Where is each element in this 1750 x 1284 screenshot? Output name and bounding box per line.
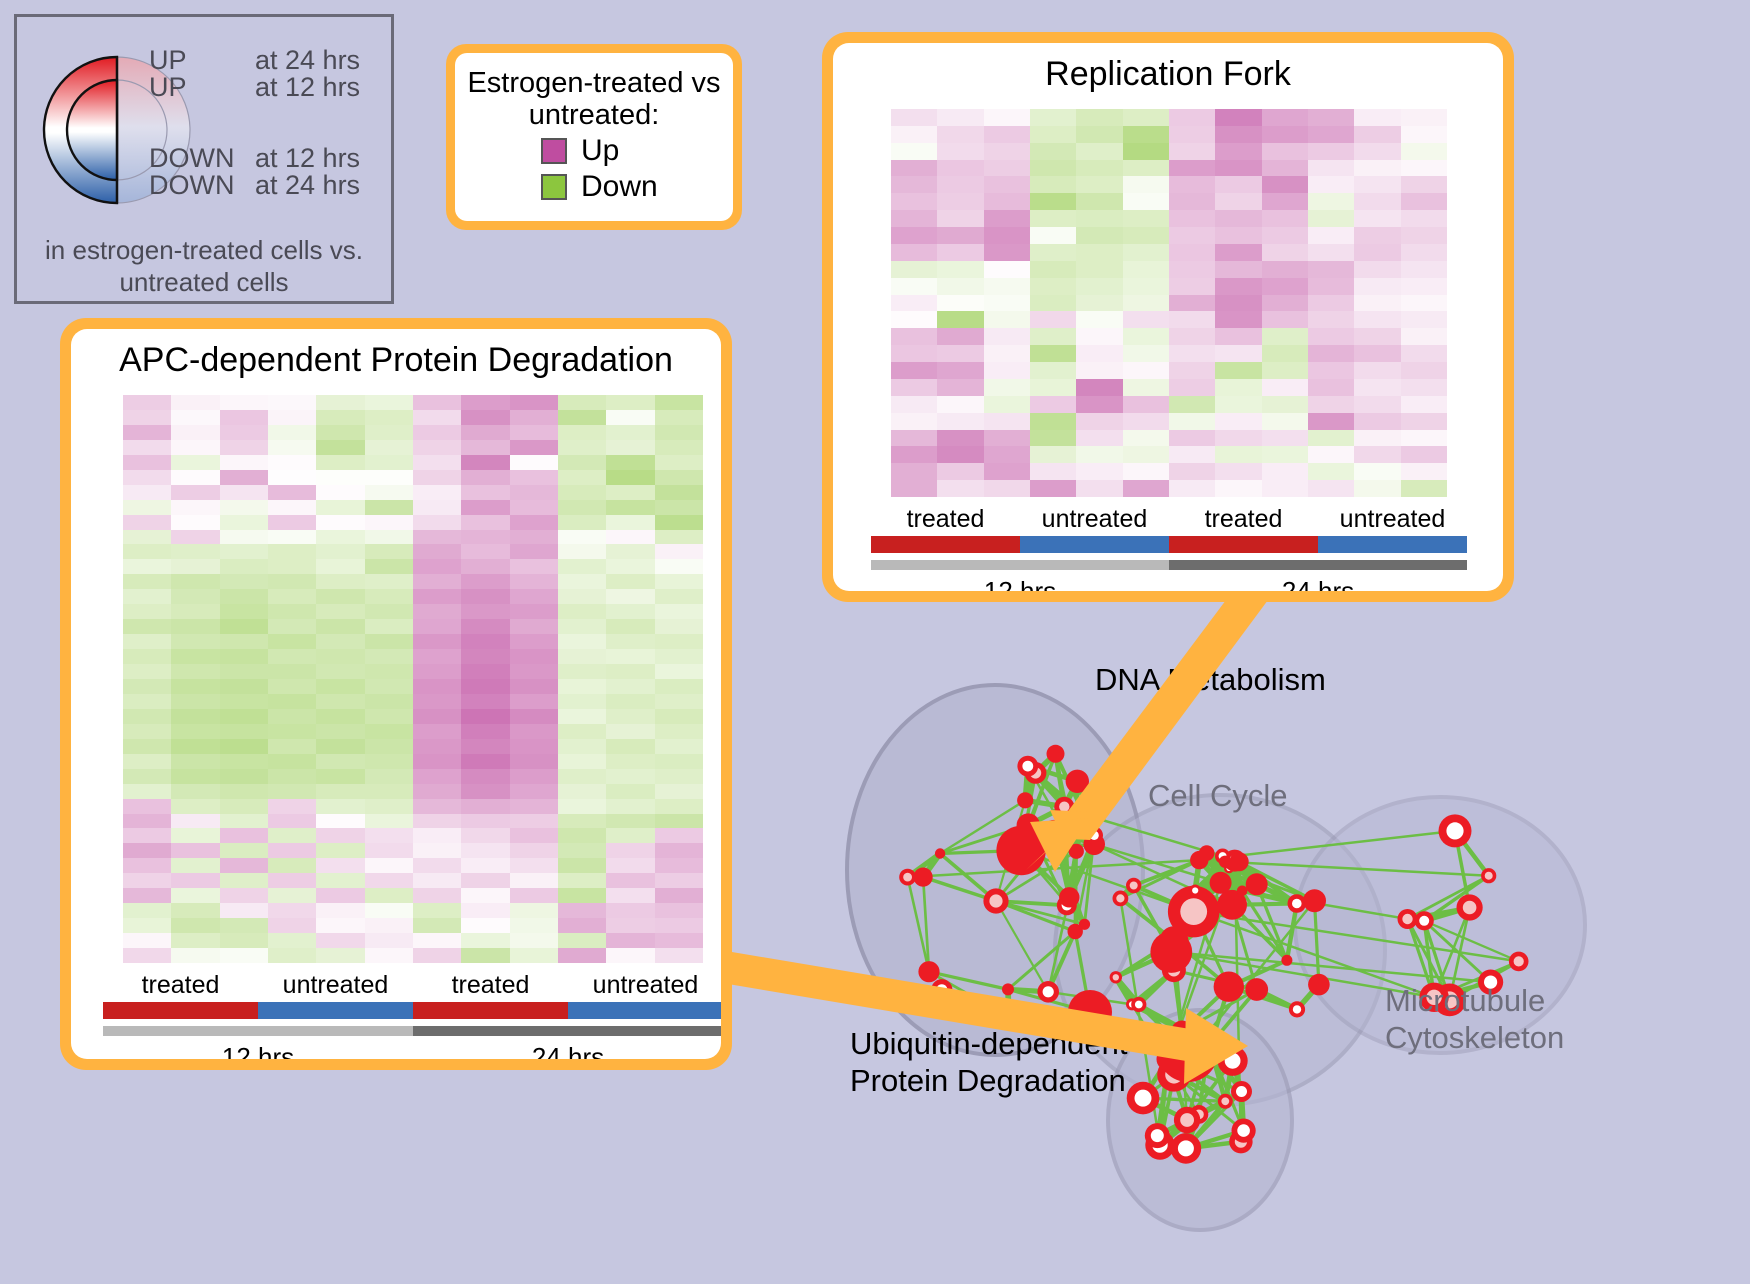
heatmap-cell (510, 410, 558, 425)
network-node[interactable] (1189, 885, 1201, 897)
heatmap-cell (1123, 328, 1169, 345)
heatmap-cell (316, 485, 364, 500)
heatmap-cell (268, 724, 316, 739)
heatmap-cell (123, 425, 171, 440)
heatmap-cell (220, 814, 268, 829)
heatmap-cell (413, 530, 461, 545)
heatmap-cell (316, 873, 364, 888)
heatmap-cell (1076, 345, 1122, 362)
heatmap-cell (1169, 379, 1215, 396)
heatmap-cell (1169, 126, 1215, 143)
heatmap-cell (510, 544, 558, 559)
network-node[interactable] (1288, 894, 1307, 913)
heatmap-cell (1262, 430, 1308, 447)
heatmap-cell (123, 455, 171, 470)
heatmap-cell (891, 143, 937, 160)
heatmap-cell (1123, 160, 1169, 177)
heatmap-cell (606, 933, 654, 948)
heatmap-cell (413, 769, 461, 784)
heatmap-cell (1215, 345, 1261, 362)
heatmap-cell (316, 440, 364, 455)
heatmap-cell (891, 413, 937, 430)
heatmap-cell (365, 589, 413, 604)
heatmap-cell (461, 679, 509, 694)
heatmap-cell (1262, 193, 1308, 210)
network-node[interactable] (1078, 808, 1090, 820)
network-node[interactable] (1043, 820, 1064, 841)
heatmap-cell (268, 619, 316, 634)
heatmap-cell (220, 784, 268, 799)
heatmap-cell (558, 649, 606, 664)
panel-title: APC-dependent Protein Degradation (71, 329, 721, 380)
heatmap-cell (510, 440, 558, 455)
heatmap-cell (558, 888, 606, 903)
heatmap-cell (1308, 210, 1354, 227)
heatmap-cell (365, 530, 413, 545)
heatmap-cell (1169, 311, 1215, 328)
heatmap-cell (365, 873, 413, 888)
heatmap-cell (1215, 413, 1261, 430)
heatmap-cell (365, 440, 413, 455)
heatmap-cell (461, 724, 509, 739)
heatmap-cell (1215, 160, 1261, 177)
heatmap-cell (220, 574, 268, 589)
heatmap-cell (461, 828, 509, 843)
heatmap-cell (316, 799, 364, 814)
heatmap-cell (1030, 463, 1076, 480)
heatmap-cell (510, 739, 558, 754)
heatmap-cell (558, 604, 606, 619)
heatmap-cell (220, 754, 268, 769)
heatmap-cell (655, 709, 703, 724)
cluster-label-ubiquitin-degradation: Ubiquitin-dependent Protein Degradation (850, 1025, 1128, 1099)
heatmap-cell (123, 724, 171, 739)
heatmap-cell (268, 784, 316, 799)
heatmap-cell (1123, 446, 1169, 463)
heatmap-cell (1169, 210, 1215, 227)
treatment-labels: treated untreated treated untreated (871, 505, 1467, 534)
heatmap-cell (365, 769, 413, 784)
heatmap-cell (461, 530, 509, 545)
heatmap-cell (510, 574, 558, 589)
legend-row: DOWN at 24 hrs (149, 172, 389, 199)
network-node[interactable] (1281, 955, 1292, 966)
network-node[interactable] (1218, 1046, 1248, 1076)
network-node[interactable] (1017, 792, 1033, 808)
network-node[interactable] (1246, 873, 1268, 895)
heatmap-cell (558, 918, 606, 933)
network-node[interactable] (1415, 911, 1434, 930)
heatmap-cell (171, 470, 219, 485)
heatmap-cell (413, 589, 461, 604)
network-node[interactable] (931, 979, 952, 1000)
network-node[interactable] (935, 848, 945, 858)
heatmap-cell (1262, 480, 1308, 497)
heatmap-cell (1123, 193, 1169, 210)
heatmap-cell (1030, 379, 1076, 396)
heatmap-cell (1169, 109, 1215, 126)
heatmap-cell (413, 873, 461, 888)
heatmap-cell (365, 574, 413, 589)
heatmap-cell (655, 485, 703, 500)
heatmap-cell (1076, 362, 1122, 379)
network-node[interactable] (1232, 1119, 1256, 1143)
heatmap-cell (1030, 430, 1076, 447)
heatmap-cell (558, 455, 606, 470)
heatmap-cell (123, 709, 171, 724)
heatmap-cell (316, 664, 364, 679)
heatmap-cell (461, 784, 509, 799)
heatmap-cell (510, 858, 558, 873)
heatmap-cell (891, 328, 937, 345)
treatment-bar-segment (1020, 536, 1169, 553)
heatmap-cell (268, 828, 316, 843)
heatmap-cell (268, 769, 316, 784)
heatmap-cell (123, 649, 171, 664)
heatmap-cell (316, 589, 364, 604)
heatmap-cell (510, 903, 558, 918)
heatmap-cell (1215, 396, 1261, 413)
network-node[interactable] (1308, 974, 1330, 996)
heatmap-cell (268, 709, 316, 724)
legend-time: at 24 hrs (255, 47, 360, 74)
heatmap-cell (413, 903, 461, 918)
heatmap-cell (365, 649, 413, 664)
heatmap-cell (1123, 311, 1169, 328)
heatmap-cell (220, 724, 268, 739)
heatmap-cell (171, 604, 219, 619)
heatmap-cell (171, 828, 219, 843)
heatmap-cell (606, 440, 654, 455)
heatmap-cell (1401, 362, 1447, 379)
network-node[interactable] (1210, 872, 1232, 894)
heatmap-cell (937, 227, 983, 244)
heatmap-cell (268, 754, 316, 769)
network-node[interactable] (1231, 1081, 1252, 1102)
heatmap-cell (268, 843, 316, 858)
heatmap-cell (558, 559, 606, 574)
heatmap-cell (171, 589, 219, 604)
heatmap-cell (558, 948, 606, 963)
network-node[interactable] (983, 888, 1008, 913)
heatmap-cell (1215, 261, 1261, 278)
heatmap-cell (171, 858, 219, 873)
network-node[interactable] (1068, 924, 1083, 939)
heatmap-cell (316, 828, 364, 843)
heatmap-cell (316, 619, 364, 634)
heatmap-cell (123, 754, 171, 769)
heatmap-cell (510, 814, 558, 829)
heatmap-cell (316, 455, 364, 470)
heatmap-cell (365, 828, 413, 843)
network-node[interactable] (1190, 851, 1208, 869)
heatmap-cell (123, 634, 171, 649)
heatmap-cell (316, 709, 364, 724)
treatment-label: treated (413, 971, 568, 1000)
time-color-bar (871, 560, 1467, 570)
network-node[interactable] (1289, 1001, 1305, 1017)
heatmap-cell (1123, 176, 1169, 193)
network-node[interactable] (1171, 1133, 1202, 1164)
heatmap-cell (558, 754, 606, 769)
heatmap-cell (171, 843, 219, 858)
heatmap-cell (171, 559, 219, 574)
heatmap-cell (1030, 210, 1076, 227)
heatmap-cell (510, 769, 558, 784)
heatmap-cell (606, 918, 654, 933)
network-node[interactable] (1059, 887, 1079, 907)
heatmap-cell (123, 873, 171, 888)
heatmap-cell (268, 485, 316, 500)
heatmap-cell (461, 544, 509, 559)
heatmap-cell (1401, 430, 1447, 447)
network-node[interactable] (1218, 1094, 1233, 1109)
heatmap-cell (510, 515, 558, 530)
heatmap-cell (1076, 430, 1122, 447)
heatmap-cell (558, 664, 606, 679)
heatmap-cell (510, 604, 558, 619)
network-node[interactable] (1237, 886, 1248, 897)
heatmap-cell (891, 362, 937, 379)
heatmap-cell (413, 425, 461, 440)
heatmap-cell (984, 379, 1030, 396)
heatmap-cell (655, 425, 703, 440)
heatmap-cell (413, 440, 461, 455)
network-node[interactable] (899, 869, 916, 886)
network-node[interactable] (1509, 952, 1529, 972)
heatmap-cell (937, 278, 983, 295)
heatmap-cell (1401, 261, 1447, 278)
network-map: DNA Metabolism Cell Cycle Microtubule Cy… (790, 620, 1750, 1279)
heatmap-cell (1401, 210, 1447, 227)
network-node[interactable] (1145, 1123, 1170, 1148)
heatmap-cell (171, 679, 219, 694)
heatmap-cell (606, 888, 654, 903)
heatmap-cell (1354, 143, 1400, 160)
heatmap-cell (123, 814, 171, 829)
heatmap-cell (1401, 109, 1447, 126)
heatmap-cell (268, 470, 316, 485)
heatmap-cell (1354, 227, 1400, 244)
heatmap-cell (655, 574, 703, 589)
heatmap-cell (558, 530, 606, 545)
heatmap-cell (1354, 210, 1400, 227)
heatmap-cell (1215, 210, 1261, 227)
heatmap-cell (413, 888, 461, 903)
time-bar-segment (413, 1026, 721, 1036)
network-node[interactable] (1131, 997, 1146, 1012)
heatmap-cell (606, 544, 654, 559)
heatmap-cell (655, 769, 703, 784)
heatmap-cell (316, 515, 364, 530)
network-node[interactable] (1113, 891, 1129, 907)
heatmap-cell (413, 559, 461, 574)
heatmap-cell (1076, 126, 1122, 143)
heatmap-cell (655, 470, 703, 485)
heatmap-cell (510, 395, 558, 410)
network-node[interactable] (914, 868, 933, 887)
heatmap-cell (1308, 446, 1354, 463)
heatmap-cell (171, 739, 219, 754)
network-node[interactable] (1481, 868, 1496, 883)
network-node[interactable] (1219, 856, 1231, 868)
heatmap-cell (1076, 295, 1122, 312)
heatmap-cell (1123, 109, 1169, 126)
heatmap-cell (558, 485, 606, 500)
network-node[interactable] (1085, 827, 1103, 845)
heatmap-cell (365, 888, 413, 903)
heatmap-cell (365, 918, 413, 933)
network-node[interactable] (918, 961, 939, 982)
network-node[interactable] (1066, 770, 1089, 793)
heatmap-cell (1262, 413, 1308, 430)
heatmap-cell (316, 769, 364, 784)
heatmap-cell (1030, 261, 1076, 278)
heatmap-cell (1401, 143, 1447, 160)
heatmap-cell (220, 485, 268, 500)
network-node[interactable] (1303, 889, 1326, 912)
heatmap-cell (123, 903, 171, 918)
heatmap-cell (220, 799, 268, 814)
network-node[interactable] (1150, 931, 1192, 973)
heatmap-cell (606, 828, 654, 843)
network-node[interactable] (1457, 894, 1483, 920)
heatmap-cell (1215, 295, 1261, 312)
network-node[interactable] (1398, 909, 1418, 929)
heatmap-cell (1215, 227, 1261, 244)
heatmap-cell (123, 694, 171, 709)
heatmap-cell (891, 193, 937, 210)
heatmap-cell (413, 649, 461, 664)
heatmap-cell (1308, 295, 1354, 312)
network-node[interactable] (1017, 756, 1038, 777)
heatmap-cell (268, 589, 316, 604)
heatmap-cell (413, 664, 461, 679)
heatmap-cell (1076, 328, 1122, 345)
heatmap-cell (268, 679, 316, 694)
heatmap-cell (123, 933, 171, 948)
heatmap-cell (461, 574, 509, 589)
heatmap-cell (655, 828, 703, 843)
treatment-label: treated (871, 505, 1020, 534)
network-node[interactable] (1245, 978, 1268, 1001)
heatmap-cell (461, 814, 509, 829)
network-node[interactable] (1214, 972, 1244, 1002)
heatmap-cell (1401, 311, 1447, 328)
heatmap-cell (365, 425, 413, 440)
heatmap-cell (1262, 345, 1308, 362)
heatmap-cell (1030, 109, 1076, 126)
heatmap-cell (1354, 278, 1400, 295)
heatmap-cell (413, 485, 461, 500)
heatmap-cell (1030, 244, 1076, 261)
treatment-color-bar (103, 1002, 721, 1019)
network-node[interactable] (1126, 878, 1141, 893)
heatmap-cell (220, 500, 268, 515)
heatmap-cell (1354, 160, 1400, 177)
network-node[interactable] (1069, 844, 1084, 859)
heatmap-cell (655, 903, 703, 918)
heatmap-cell (1215, 176, 1261, 193)
network-node[interactable] (1054, 797, 1074, 817)
network-node[interactable] (1037, 981, 1059, 1003)
heatmap-cell (891, 278, 937, 295)
network-node[interactable] (1110, 971, 1122, 983)
heatmap-cell (937, 160, 983, 177)
network-node[interactable] (1230, 852, 1249, 871)
heatmap-cell (1308, 480, 1354, 497)
network-node[interactable] (1002, 983, 1014, 995)
heatmap-cell (937, 328, 983, 345)
heatmap-cell (413, 814, 461, 829)
heatmap-cell (365, 739, 413, 754)
heatmap-cell (461, 799, 509, 814)
heatmap-cell (316, 679, 364, 694)
network-node[interactable] (1158, 1022, 1218, 1082)
heatmap-cell (1401, 295, 1447, 312)
network-node[interactable] (1017, 813, 1040, 836)
heatmap-cell (1262, 109, 1308, 126)
heatmap-cell (655, 858, 703, 873)
heatmap-cell (655, 918, 703, 933)
heatmap-cell (171, 664, 219, 679)
network-node[interactable] (1127, 1082, 1160, 1115)
heatmap-cell (365, 724, 413, 739)
network-node[interactable] (1439, 814, 1472, 847)
heatmap-cell (220, 858, 268, 873)
network-node[interactable] (1174, 1107, 1200, 1133)
heatmap-cell (461, 709, 509, 724)
heatmap-cell (558, 410, 606, 425)
heatmap-cell (1169, 261, 1215, 278)
heatmap-cell (606, 784, 654, 799)
panel-apc-degradation: APC-dependent Protein Degradation treate… (60, 318, 732, 1070)
network-node[interactable] (1047, 745, 1065, 763)
heatmap-cell (1262, 160, 1308, 177)
heatmap-cell (220, 425, 268, 440)
heatmap-cell (655, 754, 703, 769)
heatmap-cell (558, 515, 606, 530)
heatmap-cell (655, 649, 703, 664)
heatmap-cell (316, 425, 364, 440)
down-label: Down (581, 170, 658, 204)
heatmap-cell (171, 709, 219, 724)
heatmap-cell (606, 425, 654, 440)
heatmap-cell (891, 430, 937, 447)
heatmap-cell (171, 455, 219, 470)
heatmap-cell (1401, 328, 1447, 345)
heatmap-cell (413, 754, 461, 769)
heatmap-cell (268, 918, 316, 933)
heatmap-cell (365, 933, 413, 948)
heatmap-cell (316, 918, 364, 933)
heatmap-cell (558, 784, 606, 799)
heatmap-cell (655, 544, 703, 559)
heatmap-cell (1123, 362, 1169, 379)
heatmap-cell (461, 515, 509, 530)
heatmap-cell (937, 430, 983, 447)
heatmap-cell (461, 455, 509, 470)
heatmap-cell (1123, 379, 1169, 396)
heatmap-cell (123, 769, 171, 784)
heatmap-cell (655, 589, 703, 604)
heatmap-cell (558, 903, 606, 918)
legend-row-list: UP at 24 hrs UP at 12 hrs DOWN at 12 hrs… (149, 47, 389, 199)
heatmap-cell (984, 413, 1030, 430)
updown-key-title: Estrogen-treated vs untreated: (465, 67, 723, 132)
heatmap-cell (461, 918, 509, 933)
node-color-legend: UP at 24 hrs UP at 12 hrs DOWN at 12 hrs… (14, 14, 394, 304)
